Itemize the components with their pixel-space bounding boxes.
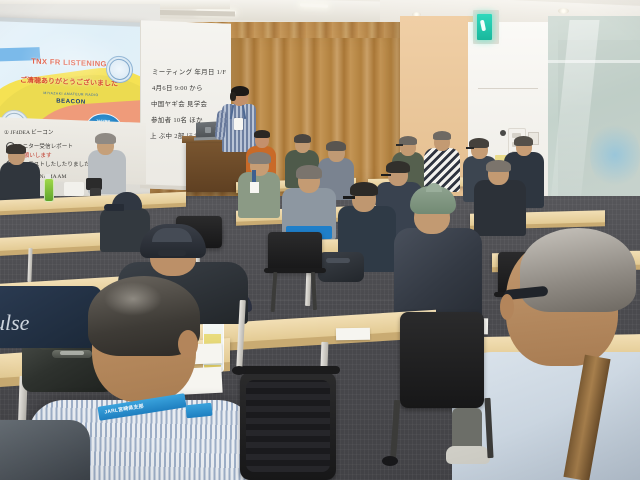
- attendee-hair: [296, 165, 322, 179]
- green-bottle: [44, 178, 54, 202]
- foreground-attendee-ear: [178, 330, 198, 358]
- wall-groove: [478, 88, 538, 89]
- whiteboard-line: ミーティング 年月日 1/F: [152, 66, 226, 76]
- chair-back: [268, 232, 322, 272]
- presenter-hair-side: [230, 92, 236, 101]
- chair-back-mid: [400, 312, 484, 408]
- caster-wheel: [232, 366, 246, 375]
- seminar-room-photo: TNX FR LISTENING ご清聴ありがとうございました MIYAZAKI…: [0, 0, 640, 480]
- eyeglasses-icon: [343, 196, 355, 199]
- attendee-hair: [433, 131, 451, 140]
- attendee-torso: [474, 180, 526, 236]
- right-attendee-hair: [520, 228, 636, 312]
- attendee-hair: [254, 130, 270, 138]
- cap-crown: [426, 183, 442, 192]
- attendee-hair: [514, 136, 533, 146]
- glass-screen-reflection: [590, 120, 640, 190]
- cap-panel: [152, 228, 192, 242]
- glass-rail: [548, 60, 640, 63]
- eyeglasses-icon: [396, 144, 403, 146]
- attendee-hair: [294, 134, 311, 143]
- backpack-logo-icon: [60, 351, 84, 355]
- caster-wheel: [382, 456, 398, 466]
- laptop-logo-icon: [205, 127, 211, 133]
- bag-brand-text: ulse: [0, 310, 29, 336]
- left-attendee-shoulder: [0, 420, 90, 480]
- backpack-strap: [326, 258, 350, 263]
- attendee-hair: [326, 141, 346, 151]
- whiteboard-line: 参加者 10名 ほか: [151, 114, 203, 124]
- whiteboard-line: 4月6日 9:00 から: [152, 82, 203, 92]
- eyeglasses-icon: [381, 174, 391, 176]
- hair-highlight: [104, 282, 162, 316]
- backpack-on-desk: [318, 252, 364, 282]
- thermostat-icon[interactable]: [500, 130, 506, 136]
- attendee-torso: [238, 172, 280, 218]
- attendee-hair: [486, 160, 511, 172]
- chair-mesh: [246, 380, 330, 472]
- attendee-hair: [248, 152, 271, 164]
- attendee-hair: [95, 133, 116, 144]
- eyeglasses-icon: [466, 147, 474, 149]
- notes-heading: ① JF4DEA ビーコン: [4, 128, 53, 136]
- attendee-hair: [386, 161, 410, 173]
- shoe: [446, 446, 490, 464]
- bottle-cap: [45, 174, 51, 179]
- cap-strap: [158, 250, 186, 256]
- whiteboard-line: 中国ヤギ会 見学会: [151, 98, 207, 108]
- presenter-name-badge: [234, 118, 243, 130]
- attendee-hair: [350, 182, 378, 196]
- tissue-box: [64, 182, 84, 196]
- ceiling-downlight: [558, 8, 569, 14]
- attendee-torso-sage-cap: [394, 228, 482, 320]
- right-attendee-ear: [500, 294, 514, 320]
- attendee-hair: [6, 144, 26, 154]
- foreground-lanyard-right: [185, 403, 212, 419]
- screen-glare: [20, 28, 130, 92]
- handout-paper: [336, 328, 370, 341]
- cap-brim: [104, 204, 124, 211]
- attendee-badge: [250, 182, 259, 193]
- chair-frame: [236, 366, 340, 374]
